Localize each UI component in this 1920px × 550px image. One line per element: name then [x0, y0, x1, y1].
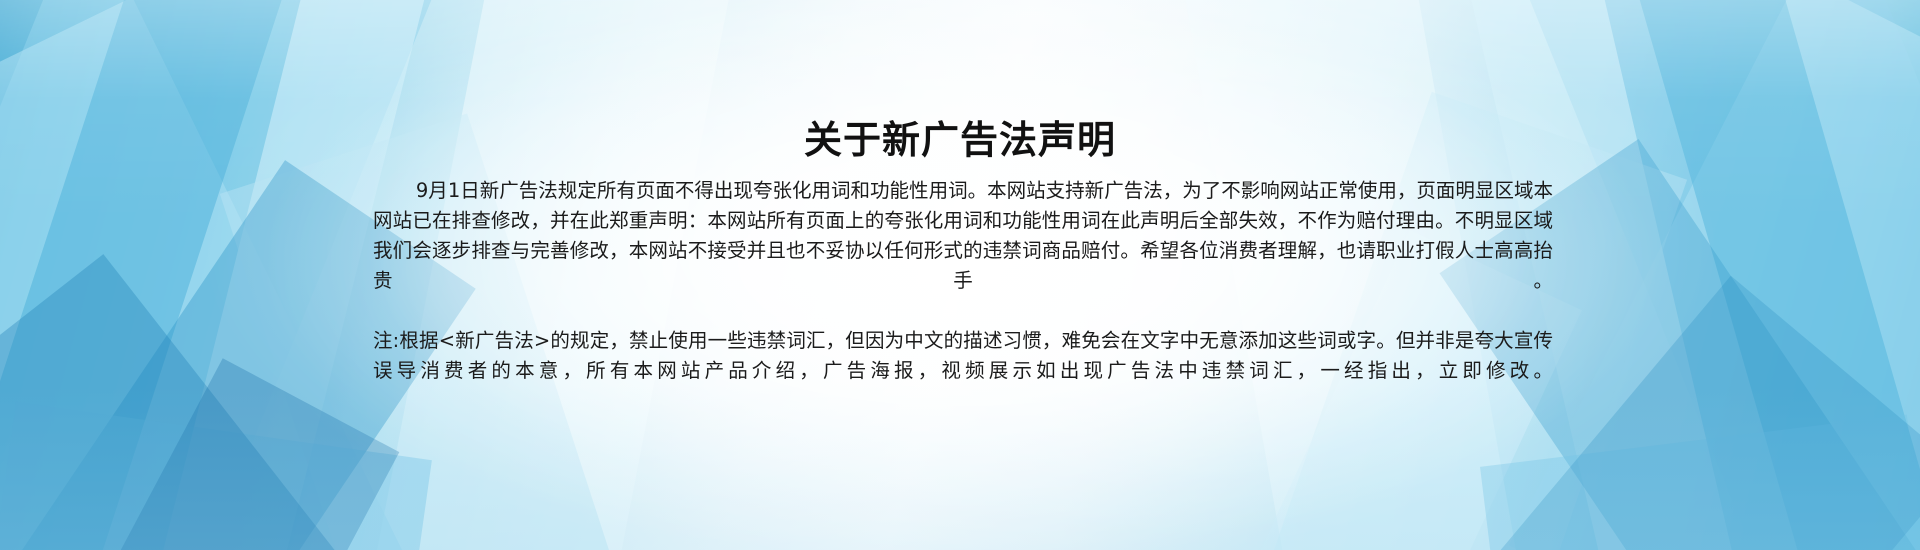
statement-text-block: 9月1日新广告法规定所有页面不得出现夸张化用词和功能性用词。本网站支持新广告法，…	[373, 176, 1553, 416]
advertising-law-statement-banner: 关于新广告法声明 9月1日新广告法规定所有页面不得出现夸张化用词和功能性用词。本…	[0, 0, 1920, 550]
statement-content: 关于新广告法声明 9月1日新广告法规定所有页面不得出现夸张化用词和功能性用词。本…	[0, 0, 1920, 550]
statement-paragraph-main: 9月1日新广告法规定所有页面不得出现夸张化用词和功能性用词。本网站支持新广告法，…	[373, 176, 1553, 326]
page-title: 关于新广告法声明	[0, 113, 1920, 167]
statement-paragraph-note: 注:根据<新广告法>的规定，禁止使用一些违禁词汇，但因为中文的描述习惯，难免会在…	[373, 326, 1553, 416]
